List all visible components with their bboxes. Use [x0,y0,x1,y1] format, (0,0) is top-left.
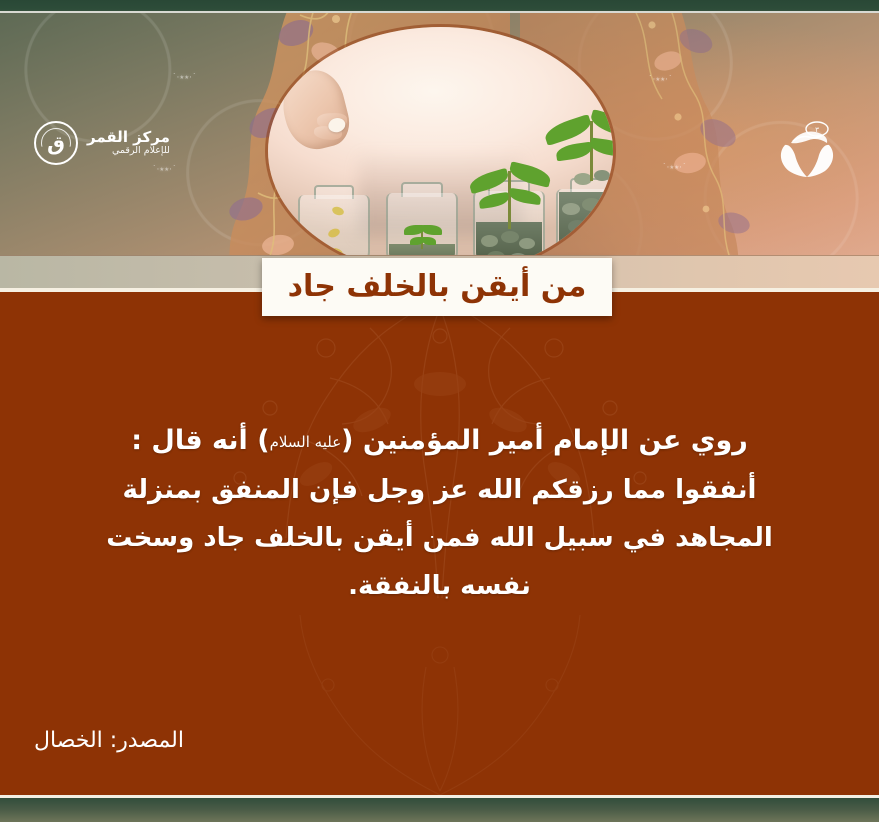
quote-line-3: المجاهد في سبيل الله فمن أيقن بالخلف جاد… [72,514,807,562]
sparkle-decor-1: ˙·٭٭·˙ [172,73,197,83]
title-banner-text: من أيقن بالخلف جاد [288,272,587,302]
cupped-hands-calligraphy-icon[interactable]: ٣ [771,117,843,179]
title-banner: من أيقن بالخلف جاد [262,258,612,316]
hadith-quote-block: روي عن الإمام أمير المؤمنين (عليه السلام… [0,416,879,610]
glass-jar-with-sprout [386,173,458,255]
quote-line-1: روي عن الإمام أمير المؤمنين (عليه السلام… [72,416,807,466]
brand-name-primary: مركز القمر [87,129,170,146]
glass-jar-with-coins-and-plant [473,143,545,255]
body-ornament-watermark-bottom [90,615,790,795]
brand-name-secondary: للإعلام الرقمي [87,146,170,157]
brand-logo-left[interactable]: ق مركز القمر للإعلام الرقمي [34,121,170,165]
brand-wordmark: مركز القمر للإعلام الرقمي [87,129,170,156]
quote-line-4: نفسه بالنفقة. [72,562,807,610]
source-label: المصدر: الخصال [34,728,184,753]
poster-header: ˙·٭٭·˙ ˙·٭٭·˙ ˙·٭٭·˙ ˙·٭٭·˙ [0,13,879,255]
circular-calligraphy-monogram-icon: ق [34,121,78,165]
hero-photo-circle [268,27,613,255]
quote-line-2: أنفقوا مما رزقكم الله عز وجل فإن المنفق … [72,466,807,514]
glass-jar-full-of-coins-with-tree [556,103,613,255]
poster-body: روي عن الإمام أمير المؤمنين (عليه السلام… [0,288,879,795]
sparkle-decor-4: ˙·٭٭·˙ [662,163,687,173]
poster-canvas: ˙·٭٭·˙ ˙·٭٭·˙ ˙·٭٭·˙ ˙·٭٭·˙ [0,0,879,822]
top-border-strip [0,0,879,13]
glass-jar-with-seed [298,177,370,255]
quote-line-1-part-b: ) أنه قال : [131,425,269,456]
svg-text:٣: ٣ [815,126,819,134]
bottom-border-strip [0,795,879,822]
sparkle-decor-3: ˙·٭٭·˙ [648,75,673,85]
sparkle-decor-2: ˙·٭٭·˙ [152,165,177,175]
salutation-glyph: عليه السلام [270,433,342,451]
quote-line-1-part-a: روي عن الإمام أمير المؤمنين ( [341,425,748,456]
